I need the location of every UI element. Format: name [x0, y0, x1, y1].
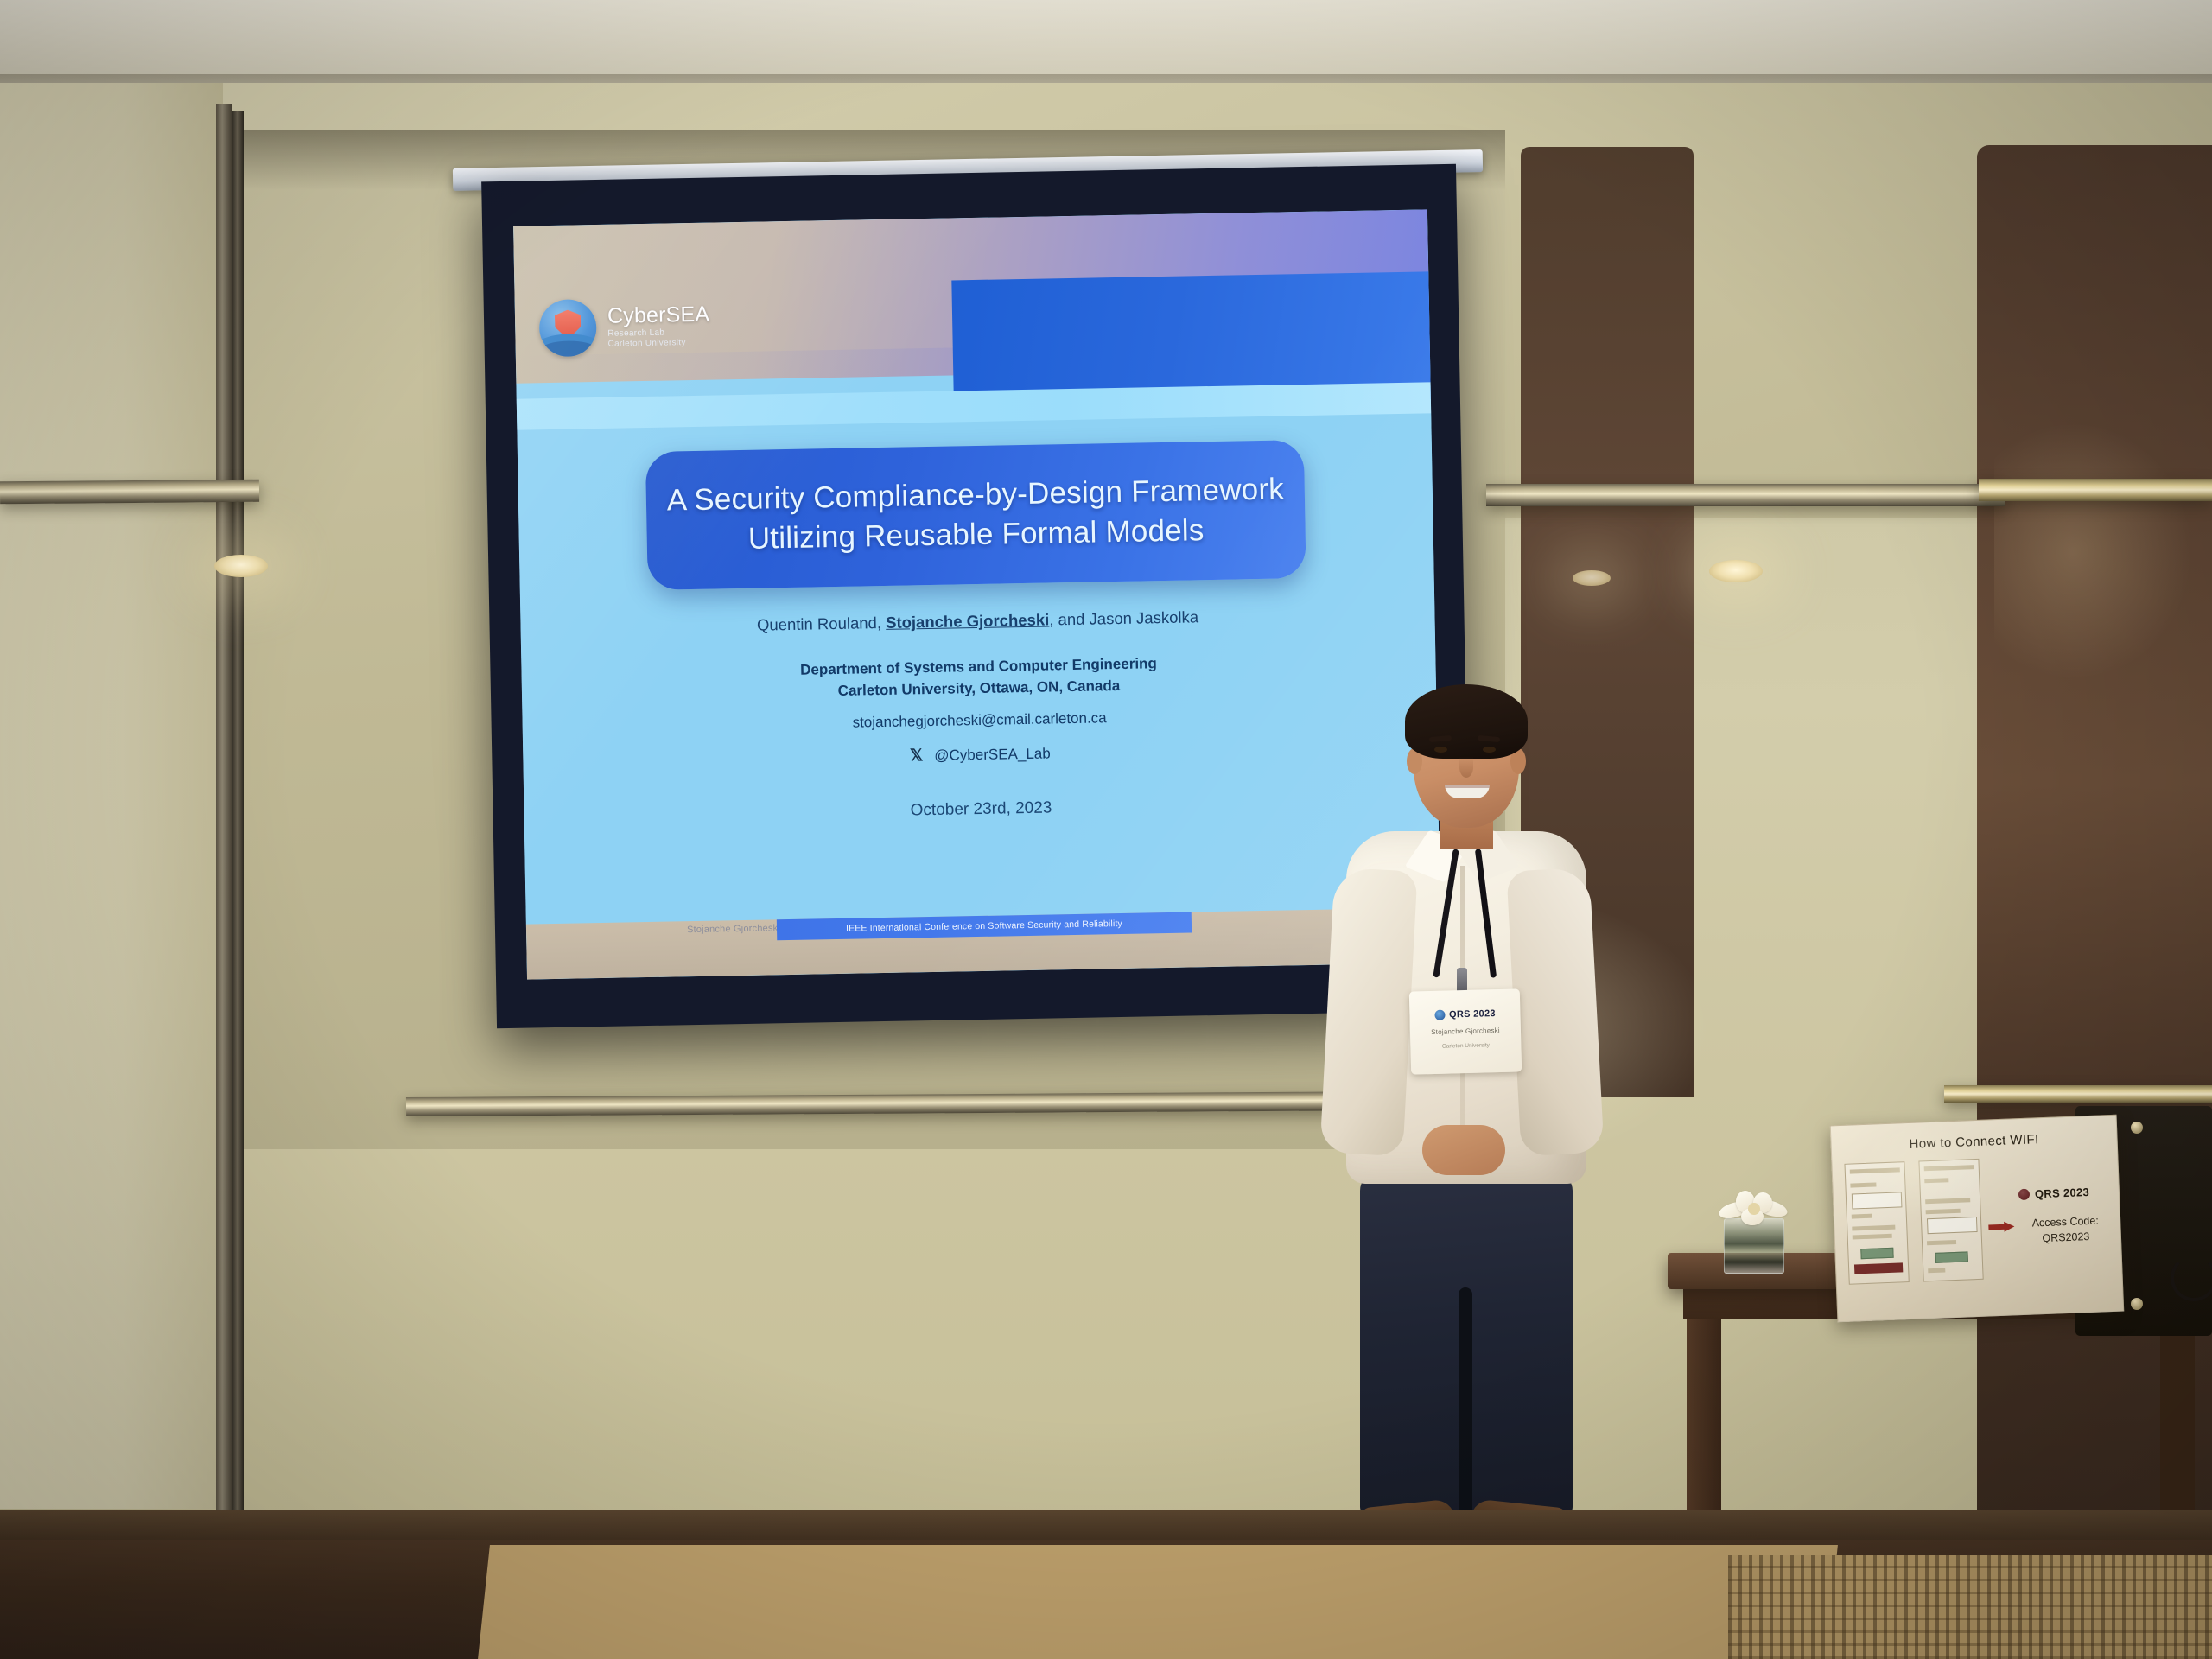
presenter-hair: [1405, 684, 1528, 759]
conference-badge: QRS 2023 Stojanche Gjorcheski Carleton U…: [1409, 988, 1522, 1074]
screenshot-button: [1860, 1248, 1893, 1259]
cybersea-logo: CyberSEA Research Lab Carleton Universit…: [539, 297, 710, 358]
author-prefix: Quentin Rouland,: [757, 613, 887, 634]
slide-social: 𝕏 @CyberSEA_Lab: [523, 736, 1437, 772]
footer-conference-name: IEEE International Conference on Softwar…: [846, 918, 1122, 934]
slide-footer: Stojanche Gjorcheski IEEE International …: [526, 907, 1441, 979]
wall-trim-left: [0, 480, 259, 505]
badge-header: QRS 2023: [1434, 1008, 1496, 1020]
qrs-circle-logo-icon: [2018, 1189, 2030, 1200]
slide-authors: Quentin Rouland, Stojanche Gjorcheski, a…: [520, 603, 1434, 639]
social-handle: @CyberSEA_Lab: [934, 745, 1051, 764]
screenshot-bar: [1925, 1198, 1970, 1204]
presenter-eye-left: [1434, 747, 1447, 753]
wifi-instruction-sign: How to Connect WIFI QR: [1830, 1115, 2125, 1323]
logo-subtitle-1: Research Lab: [607, 327, 709, 338]
wood-sheen: [1994, 422, 2193, 681]
wifi-sign-event-name: QRS 2023: [2035, 1185, 2090, 1200]
sign-screw-top: [2131, 1122, 2143, 1134]
screenshot-bar: [1924, 1178, 1948, 1183]
presenter-clasped-hands: [1422, 1125, 1505, 1175]
ceiling: [0, 0, 2212, 83]
wifi-step-1-screenshot: [1844, 1161, 1909, 1285]
slide-affiliation: Department of Systems and Computer Engin…: [521, 648, 1436, 708]
badge-person-name: Stojanche Gjorcheski: [1431, 1027, 1500, 1036]
screenshot-bar: [1924, 1165, 1974, 1171]
footer-presenter-name: Stojanche Gjorcheski: [687, 923, 780, 935]
screenshot-bar: [1926, 1209, 1961, 1215]
wall-trim-far-right: [1979, 479, 2212, 501]
arrow-tip: [2004, 1221, 2014, 1231]
slide-title-line-2: Utilizing Reusable Formal Models: [748, 513, 1205, 556]
screenshot-bar: [1853, 1234, 1892, 1240]
x-twitter-icon: 𝕏: [910, 746, 924, 766]
wifi-sign-title: How to Connect WIFI: [1831, 1129, 2116, 1155]
conference-room-photo: CyberSEA Research Lab Carleton Universit…: [0, 0, 2212, 1659]
screenshot-field: [1852, 1192, 1903, 1209]
right-arrow-icon: [1988, 1221, 2014, 1232]
shield-wave-logo-icon: [539, 299, 597, 357]
pilaster-edge-1: [216, 104, 232, 1521]
screenshot-bar: [1928, 1268, 1945, 1273]
presenter-arm-left: [1319, 868, 1417, 1157]
author-presenter: Stojanche Gjorcheski: [886, 610, 1050, 631]
slide-date: October 23rd, 2023: [524, 791, 1438, 827]
presenter-eye-right: [1483, 747, 1496, 753]
screenshot-bar: [1850, 1167, 1900, 1173]
slide-title-card: A Security Compliance-by-Design Framewor…: [645, 440, 1306, 590]
pilaster-edge-2: [232, 111, 244, 1519]
badge-event-name: QRS 2023: [1449, 1008, 1496, 1020]
trouser-gap: [1459, 1287, 1472, 1516]
coiled-cable: [2171, 1255, 2212, 1301]
wifi-sign-event: QRS 2023: [2018, 1185, 2090, 1201]
logo-text-block: CyberSEA Research Lab Carleton Universit…: [607, 304, 710, 349]
screenshot-bar: [1927, 1240, 1956, 1245]
presenter-nose: [1459, 757, 1473, 778]
ceiling-downlight-left: [214, 555, 268, 577]
wifi-access-block: Access Code: QRS2023: [2018, 1212, 2113, 1247]
screenshot-bar: [1850, 1182, 1876, 1187]
wave-shape-inner: [542, 340, 595, 357]
screenshot-bar: [1852, 1225, 1895, 1231]
slide-title-line-1: A Security Compliance-by-Design Framewor…: [666, 472, 1284, 518]
presenter-smile: [1445, 785, 1490, 798]
footer-conference-bar: IEEE International Conference on Softwar…: [777, 912, 1192, 941]
presenter: QRS 2023 Stojanche Gjorcheski Carleton U…: [1313, 683, 1607, 1547]
screenshot-banner: [1854, 1262, 1903, 1274]
badge-organization: Carleton University: [1442, 1042, 1490, 1049]
wall-trim-center-right: [1486, 484, 2005, 506]
ceiling-downlight-right: [1709, 560, 1763, 582]
wall-pilaster-left: [0, 83, 223, 1509]
author-suffix: , and Jason Jaskolka: [1049, 607, 1198, 628]
logo-name: CyberSEA: [607, 304, 710, 328]
carpet-runner-right: [1728, 1555, 2212, 1659]
presenter-arm-right: [1506, 868, 1604, 1157]
presentation-slide: CyberSEA Research Lab Carleton Universit…: [513, 209, 1441, 979]
projector-screen-surface: CyberSEA Research Lab Carleton Universit…: [513, 209, 1441, 979]
wall-trim-lower-right: [1944, 1085, 2212, 1103]
wifi-step-2-screenshot: [1918, 1159, 1983, 1282]
sign-screw-bottom: [2131, 1298, 2143, 1310]
carpet-runner: [478, 1545, 1838, 1659]
qrs-circle-logo-icon: [1434, 1010, 1445, 1020]
screenshot-bar: [1852, 1214, 1872, 1219]
slide-email: stojanchegjorcheski@cmail.carleton.ca: [523, 703, 1437, 737]
screenshot-button: [1935, 1251, 1967, 1262]
white-orchid-flower: [1715, 1191, 1791, 1229]
ceiling-downlight-center: [1573, 570, 1611, 586]
orchid-center: [1748, 1203, 1760, 1215]
screenshot-field: [1927, 1217, 1978, 1234]
logo-subtitle-2: Carleton University: [607, 338, 709, 348]
